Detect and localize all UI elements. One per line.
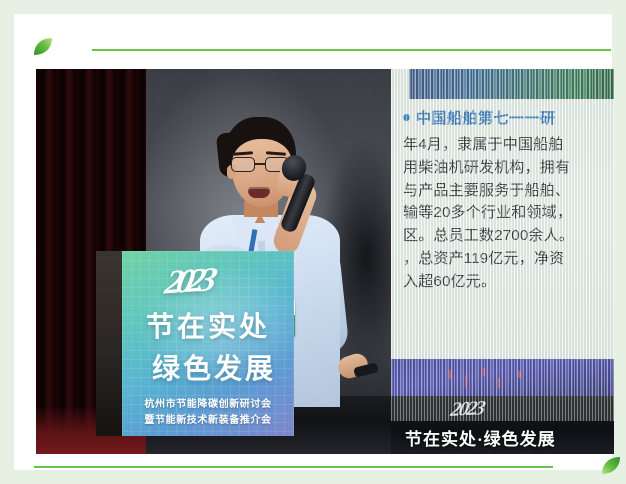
podium-year-logo: 2023 [162,262,215,303]
slide-body-line: 区。总员工数2700余人。 [403,225,614,248]
projected-slide: 中国船舶第七一一研 年4月，隶属于中国船舶 用柴油机研发机构，拥有 与产品主要服… [391,69,614,421]
podium-subtitle-line-2: 暨节能新技术新装备推介会 [122,411,294,426]
podium: 2023 节在实处 绿色发展 杭州市节能降碳创新研讨会 暨节能新技术新装备推介会 [96,251,294,436]
podium-sign: 2023 节在实处 绿色发展 杭州市节能降碳创新研讨会 暨节能新技术新装备推介会 [122,251,294,436]
bullet-point-icon [403,114,410,121]
slide-bullet-row: 中国船舶第七一一研 [403,107,614,128]
slide-body-line: 输等20多个行业和领域， [403,202,614,225]
white-page: 中国船舶第七一一研 年4月，隶属于中国船舶 用柴油机研发机构，拥有 与产品主要服… [14,14,612,470]
photo-card: 中国船舶第七一一研 年4月，隶属于中国船舶 用柴油机研发机构，拥有 与产品主要服… [0,0,626,484]
leaf-icon [32,36,54,58]
conference-photo: 中国船舶第七一一研 年4月，隶属于中国船舶 用柴油机研发机构，拥有 与产品主要服… [36,69,614,454]
speaker-mouth [248,187,270,198]
slide-text-block: 中国船舶第七一一研 年4月，隶属于中国船舶 用柴油机研发机构，拥有 与产品主要服… [403,107,614,294]
podium-side-panel [96,251,123,436]
podium-title-line-2: 绿色发展 [128,347,294,387]
slide-body-line: 入超60亿元。 [403,271,614,294]
top-divider-line [92,49,611,51]
slide-body-line: 与产品主要服务于船舶、 [403,180,614,203]
banner-slogan: 节在实处·绿色发展 [405,425,556,450]
podium-title-line-1: 节在实处 [122,305,294,345]
podium-subtitle-line-1: 杭州市节能降碳创新研讨会 [122,395,294,410]
stage-banner: 2023 节在实处·绿色发展 [391,396,614,454]
slide-body-line: 年4月，隶属于中国船舶 [403,134,614,157]
bottom-divider-line [34,466,553,468]
banner-year-logo: 2023 [449,397,486,422]
slide-header-image [409,69,614,99]
slide-body-line: 用柴油机研发机构，拥有 [403,157,614,180]
slide-body-line: ，总资产119亿元，净资 [403,248,614,271]
slide-heading: 中国船舶第七一一研 [416,107,556,128]
leaf-icon [600,454,622,476]
